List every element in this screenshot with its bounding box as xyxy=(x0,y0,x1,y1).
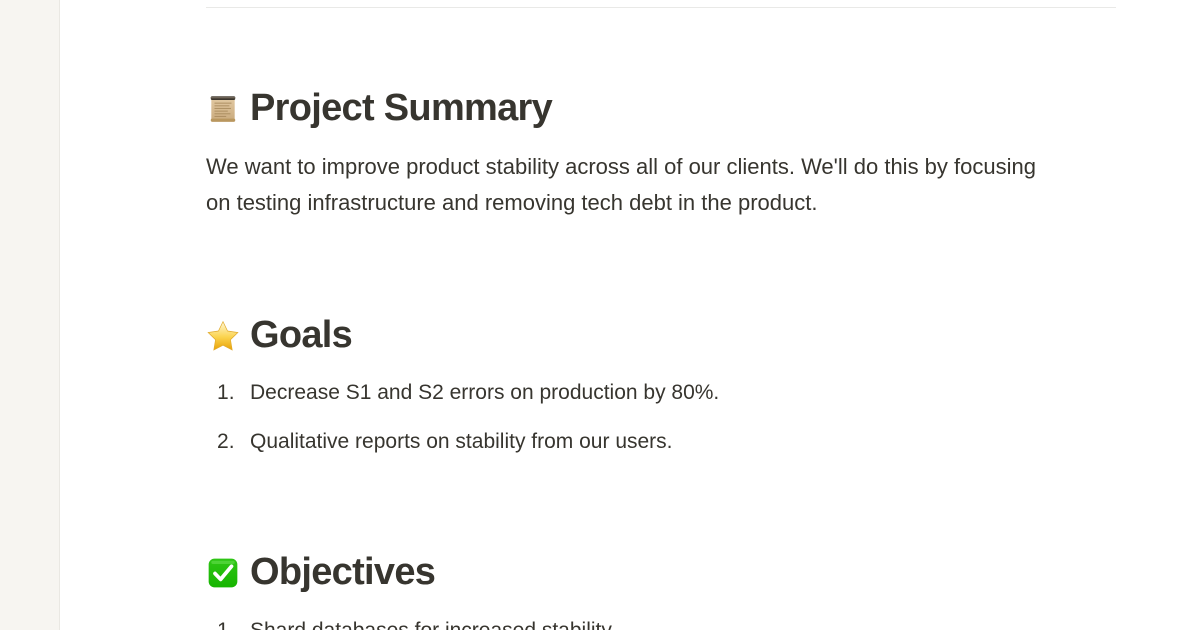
white-check-mark-icon xyxy=(206,556,240,590)
app-window: Project Summary We want to improve produ… xyxy=(0,0,1200,630)
section-project-summary: Project Summary We want to improve produ… xyxy=(206,87,1176,221)
goals-list: Decrease S1 and S2 errors on production … xyxy=(206,379,1176,456)
objectives-list: Shard databases for increased stability. xyxy=(206,617,1176,630)
document-body: Project Summary We want to improve produ… xyxy=(60,0,1200,630)
list-item[interactable]: Decrease S1 and S2 errors on production … xyxy=(206,379,1176,407)
star-icon xyxy=(206,319,240,353)
document-content-pane: Project Summary We want to improve produ… xyxy=(60,0,1200,630)
list-item[interactable]: Qualitative reports on stability from ou… xyxy=(206,428,1176,456)
scroll-icon xyxy=(206,92,240,126)
sidebar-strip[interactable] xyxy=(0,0,60,630)
heading-project-summary: Project Summary xyxy=(206,87,1176,131)
section-title: Project Summary xyxy=(250,87,552,131)
section-objectives: Objectives Shard databases for increased… xyxy=(206,551,1176,630)
summary-paragraph: We want to improve product stability acr… xyxy=(206,149,1056,221)
top-divider xyxy=(206,7,1116,8)
section-goals: Goals Decrease S1 and S2 errors on produ… xyxy=(206,314,1176,457)
heading-objectives: Objectives xyxy=(206,551,1176,595)
list-item[interactable]: Shard databases for increased stability. xyxy=(206,617,1176,630)
section-title: Goals xyxy=(250,314,352,358)
heading-goals: Goals xyxy=(206,314,1176,358)
section-title: Objectives xyxy=(250,551,435,595)
